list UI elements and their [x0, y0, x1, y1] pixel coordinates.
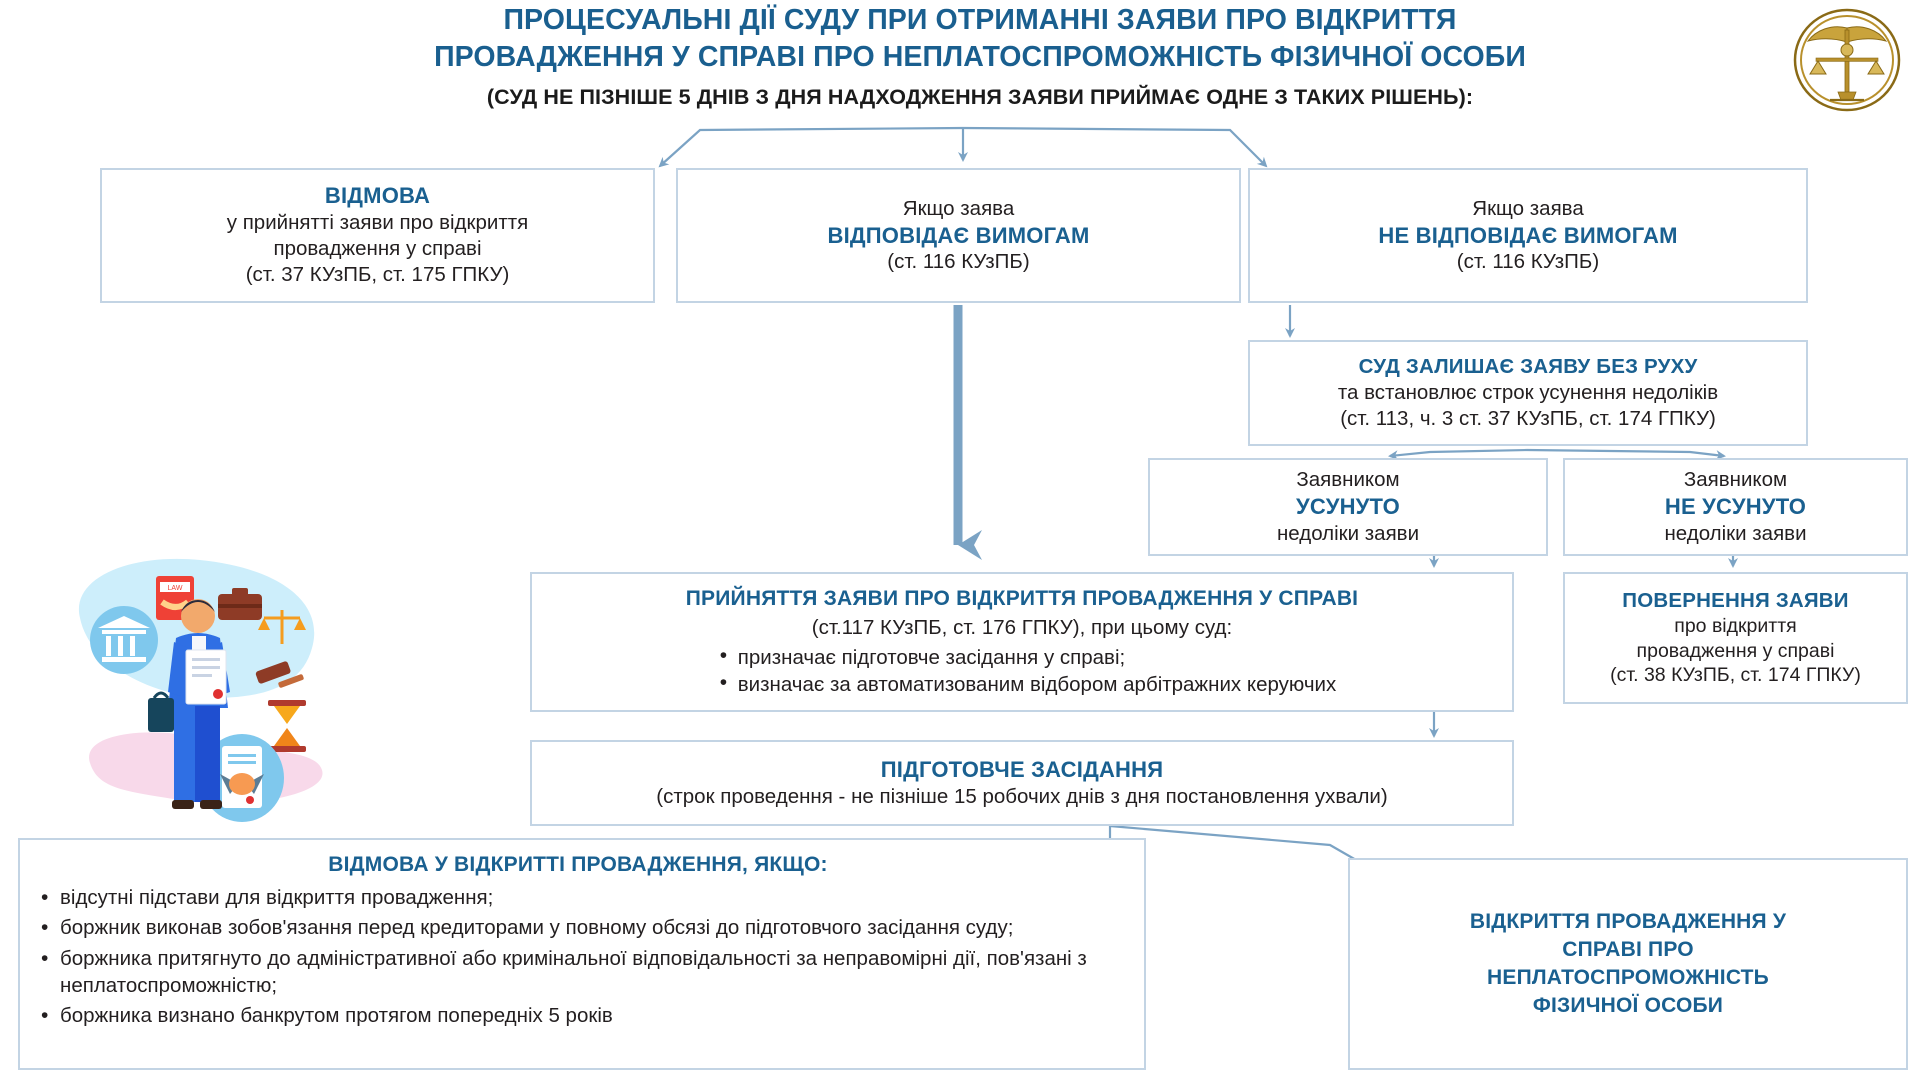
- no-motion-line-2: (ст. 113, ч. 3 ст. 37 КУзПБ, ст. 174 ГПК…: [1264, 406, 1792, 432]
- title-subtitle: (СУД НЕ ПІЗНІШЕ 5 ДНІВ З ДНЯ НАДХОДЖЕННЯ…: [330, 85, 1630, 110]
- svg-text:LAW: LAW: [168, 585, 183, 592]
- list-item: призначає підготовче засідання у справі;: [738, 644, 1336, 671]
- meets-line-2: (ст. 116 КУзПБ): [692, 249, 1225, 275]
- deny-bullet-list: відсутні підстави для відкриття провадже…: [34, 885, 1122, 1034]
- not-fixed-title: НЕ УСУНУТО: [1579, 493, 1892, 521]
- open-line-4: ФІЗИЧНОЇ ОСОБИ: [1364, 992, 1892, 1020]
- refusal-line-2: провадження у справі: [116, 236, 639, 262]
- not-meets-line-1: Якщо заява: [1264, 196, 1792, 222]
- open-line-3: НЕПЛАТОСПРОМОЖНІСТЬ: [1364, 964, 1892, 992]
- fixed-title: УСУНУТО: [1164, 493, 1532, 521]
- accept-subtitle: (ст.117 КУзПБ, ст. 176 ГПКУ), при цьому …: [546, 615, 1498, 641]
- open-line-1: ВІДКРИТТЯ ПРОВАДЖЕННЯ У: [1364, 908, 1892, 936]
- box-defects-fixed[interactable]: Заявником УСУНУТО недоліки заяви: [1148, 458, 1548, 556]
- box-application-left-without-motion[interactable]: СУД ЗАЛИШАЄ ЗАЯВУ БЕЗ РУХУ та встановлює…: [1248, 340, 1808, 446]
- page-title: ПРОЦЕСУАЛЬНІ ДІЇ СУДУ ПРИ ОТРИМАННІ ЗАЯВ…: [330, 2, 1630, 110]
- box-open-proceedings[interactable]: ВІДКРИТТЯ ПРОВАДЖЕННЯ У СПРАВІ ПРО НЕПЛА…: [1348, 858, 1908, 1070]
- refusal-title: ВІДМОВА: [116, 182, 639, 210]
- return-line-2: провадження у справі: [1579, 639, 1892, 664]
- open-line-2: СПРАВІ ПРО: [1364, 936, 1892, 964]
- prep-line-1: (строк проведення - не пізніше 15 робочи…: [546, 784, 1498, 810]
- list-item: боржника визнано банкрутом протягом попе…: [60, 1003, 1122, 1030]
- meets-title: ВІДПОВІДАЄ ВИМОГАМ: [692, 222, 1225, 250]
- return-line-1: про відкриття: [1579, 614, 1892, 639]
- no-motion-title: СУД ЗАЛИШАЄ ЗАЯВУ БЕЗ РУХУ: [1264, 354, 1792, 380]
- title-line-2: ПРОВАДЖЕННЯ У СПРАВІ ПРО НЕПЛАТОСПРОМОЖН…: [330, 39, 1630, 76]
- not-fixed-line-2: недоліки заяви: [1579, 521, 1892, 547]
- deny-title: ВІДМОВА У ВІДКРИТТІ ПРОВАДЖЕННЯ, ЯКЩО:: [34, 852, 1122, 879]
- no-motion-line-1: та встановлює строк усунення недоліків: [1264, 380, 1792, 406]
- refusal-line-1: у прийнятті заяви про відкриття: [116, 210, 639, 236]
- accept-bullet-list: призначає підготовче засідання у справі;…: [708, 644, 1336, 698]
- court-emblem-icon: [1792, 8, 1902, 112]
- box-application-not-meets-requirements[interactable]: Якщо заява НЕ ВІДПОВІДАЄ ВИМОГАМ (ст. 11…: [1248, 168, 1808, 303]
- box-preparatory-hearing[interactable]: ПІДГОТОВЧЕ ЗАСІДАННЯ (строк проведення -…: [530, 740, 1514, 826]
- accept-title: ПРИЙНЯТТЯ ЗАЯВИ ПРО ВІДКРИТТЯ ПРОВАДЖЕНН…: [546, 586, 1498, 613]
- box-application-meets-requirements[interactable]: Якщо заява ВІДПОВІДАЄ ВИМОГАМ (ст. 116 К…: [676, 168, 1241, 303]
- box-deny-opening-proceedings[interactable]: ВІДМОВА У ВІДКРИТТІ ПРОВАДЖЕННЯ, ЯКЩО: в…: [18, 838, 1146, 1070]
- list-item: визначає за автоматизованим відбором арб…: [738, 671, 1336, 698]
- title-line-1: ПРОЦЕСУАЛЬНІ ДІЇ СУДУ ПРИ ОТРИМАННІ ЗАЯВ…: [330, 2, 1630, 39]
- box-accept-application[interactable]: ПРИЙНЯТТЯ ЗАЯВИ ПРО ВІДКРИТТЯ ПРОВАДЖЕНН…: [530, 572, 1514, 712]
- return-line-3: (ст. 38 КУзПБ, ст. 174 ГПКУ): [1579, 663, 1892, 688]
- not-meets-title: НЕ ВІДПОВІДАЄ ВИМОГАМ: [1264, 222, 1792, 250]
- fixed-line-1: Заявником: [1164, 467, 1532, 493]
- list-item: відсутні підстави для відкриття провадже…: [60, 885, 1122, 912]
- fixed-line-2: недоліки заяви: [1164, 521, 1532, 547]
- box-refusal[interactable]: ВІДМОВА у прийнятті заяви про відкриття …: [100, 168, 655, 303]
- box-return-application[interactable]: ПОВЕРНЕННЯ ЗАЯВИ про відкриття проваджен…: [1563, 572, 1908, 704]
- list-item: боржник виконав зобов'язання перед креди…: [60, 915, 1122, 942]
- return-title: ПОВЕРНЕННЯ ЗАЯВИ: [1579, 588, 1892, 614]
- refusal-line-3: (ст. 37 КУзПБ, ст. 175 ГПКУ): [116, 262, 639, 288]
- list-item: боржника притягнуто до адміністративної …: [60, 946, 1122, 999]
- box-defects-not-fixed[interactable]: Заявником НЕ УСУНУТО недоліки заяви: [1563, 458, 1908, 556]
- flowchart-canvas: ПРОЦЕСУАЛЬНІ ДІЇ СУДУ ПРИ ОТРИМАННІ ЗАЯВ…: [0, 0, 1920, 1080]
- meets-line-1: Якщо заява: [692, 196, 1225, 222]
- not-fixed-line-1: Заявником: [1579, 467, 1892, 493]
- lawyer-illustration: LAW: [60, 548, 400, 838]
- not-meets-line-2: (ст. 116 КУзПБ): [1264, 249, 1792, 275]
- prep-title: ПІДГОТОВЧЕ ЗАСІДАННЯ: [546, 756, 1498, 784]
